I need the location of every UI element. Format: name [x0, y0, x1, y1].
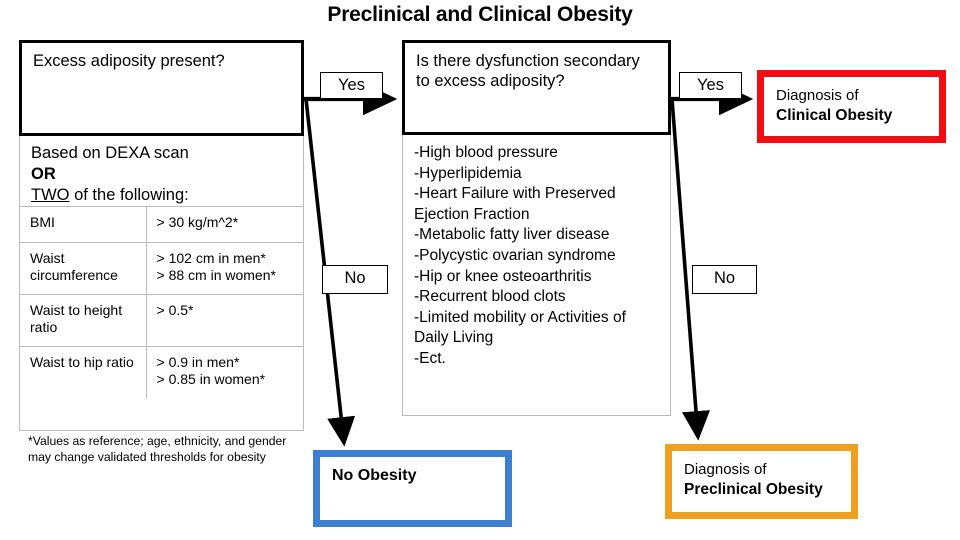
no-obesity-result-box: No Obesity [313, 450, 512, 527]
table-row: BMI > 30 kg/m^2* [20, 207, 303, 242]
list-item: -Polycystic ovarian syndrome [414, 246, 664, 267]
clinical-obesity-line1: Diagnosis of [776, 86, 931, 106]
criteria-header-line3: TWO of the following: [31, 185, 303, 206]
list-item: -Metabolic fatty liver disease [414, 225, 664, 246]
middle-question-box: Is there dysfunction secondary to excess… [402, 40, 671, 135]
page-title: Preclinical and Clinical Obesity [0, 3, 960, 27]
preclinical-obesity-line1: Diagnosis of [684, 460, 843, 480]
criteria-value-line1: > 102 cm in men* [157, 250, 300, 267]
dysfunction-list-panel: -High blood pressure -Hyperlipidemia -He… [402, 135, 671, 416]
criteria-name: Waist circumference [20, 242, 146, 294]
criteria-name: Waist to hip ratio [20, 346, 146, 398]
criteria-value-line2: > 0.85 in women* [157, 371, 300, 388]
clinical-obesity-line2: Clinical Obesity [776, 106, 931, 126]
table-row: Waist to height ratio > 0.5* [20, 294, 303, 346]
criteria-name: Waist to height ratio [20, 294, 146, 346]
criteria-value-line1: > 0.9 in men* [157, 354, 300, 371]
no-obesity-line1: No Obesity [332, 466, 497, 486]
preclinical-obesity-result-box: Diagnosis of Preclinical Obesity [665, 444, 858, 519]
edge-label-no-1: No [322, 265, 388, 294]
criteria-value: > 0.9 in men* > 0.85 in women* [146, 346, 303, 398]
clinical-obesity-result-box: Diagnosis of Clinical Obesity [757, 70, 946, 143]
edge-label-yes-1: Yes [320, 72, 383, 99]
criteria-two-rest: of the following: [70, 186, 189, 204]
table-row: Waist to hip ratio > 0.9 in men* > 0.85 … [20, 346, 303, 398]
list-item: -Heart Failure with Preserved Ejection F… [414, 184, 664, 225]
criteria-header-line1: Based on DEXA scan [31, 143, 303, 164]
criteria-table: BMI > 30 kg/m^2* Waist circumference > 1… [20, 207, 303, 398]
criteria-value: > 0.5* [146, 294, 303, 346]
criteria-value: > 102 cm in men* > 88 cm in women* [146, 242, 303, 294]
list-item: -High blood pressure [414, 143, 664, 164]
left-question-box: Excess adiposity present? [19, 40, 304, 136]
criteria-value: > 30 kg/m^2* [146, 207, 303, 242]
preclinical-obesity-line2: Preclinical Obesity [684, 480, 843, 500]
left-question-text: Excess adiposity present? [33, 52, 225, 70]
criteria-header: Based on DEXA scan OR TWO of the followi… [20, 136, 303, 207]
criteria-two-underline: TWO [31, 186, 70, 204]
edge-label-no-2: No [692, 265, 757, 294]
list-item: -Limited mobility or Activities of Daily… [414, 308, 664, 349]
criteria-value-line1: > 0.5* [157, 302, 300, 319]
list-item: -Ect. [414, 349, 664, 370]
criteria-panel: Based on DEXA scan OR TWO of the followi… [19, 136, 304, 431]
criteria-value-line1: > 30 kg/m^2* [157, 214, 300, 231]
criteria-value-line2: > 88 cm in women* [157, 267, 300, 284]
list-item: -Hyperlipidemia [414, 164, 664, 185]
list-item: -Hip or knee osteoarthritis [414, 267, 664, 288]
criteria-name: BMI [20, 207, 146, 242]
flowchart-canvas: Preclinical and Clinical Obesity Excess … [0, 0, 960, 540]
criteria-header-line2: OR [31, 164, 303, 185]
edge-label-yes-2: Yes [679, 72, 742, 99]
list-item: -Recurrent blood clots [414, 287, 664, 308]
middle-question-text: Is there dysfunction secondary to excess… [416, 52, 640, 90]
table-row: Waist circumference > 102 cm in men* > 8… [20, 242, 303, 294]
criteria-footnote: *Values as reference; age, ethnicity, an… [28, 434, 303, 465]
